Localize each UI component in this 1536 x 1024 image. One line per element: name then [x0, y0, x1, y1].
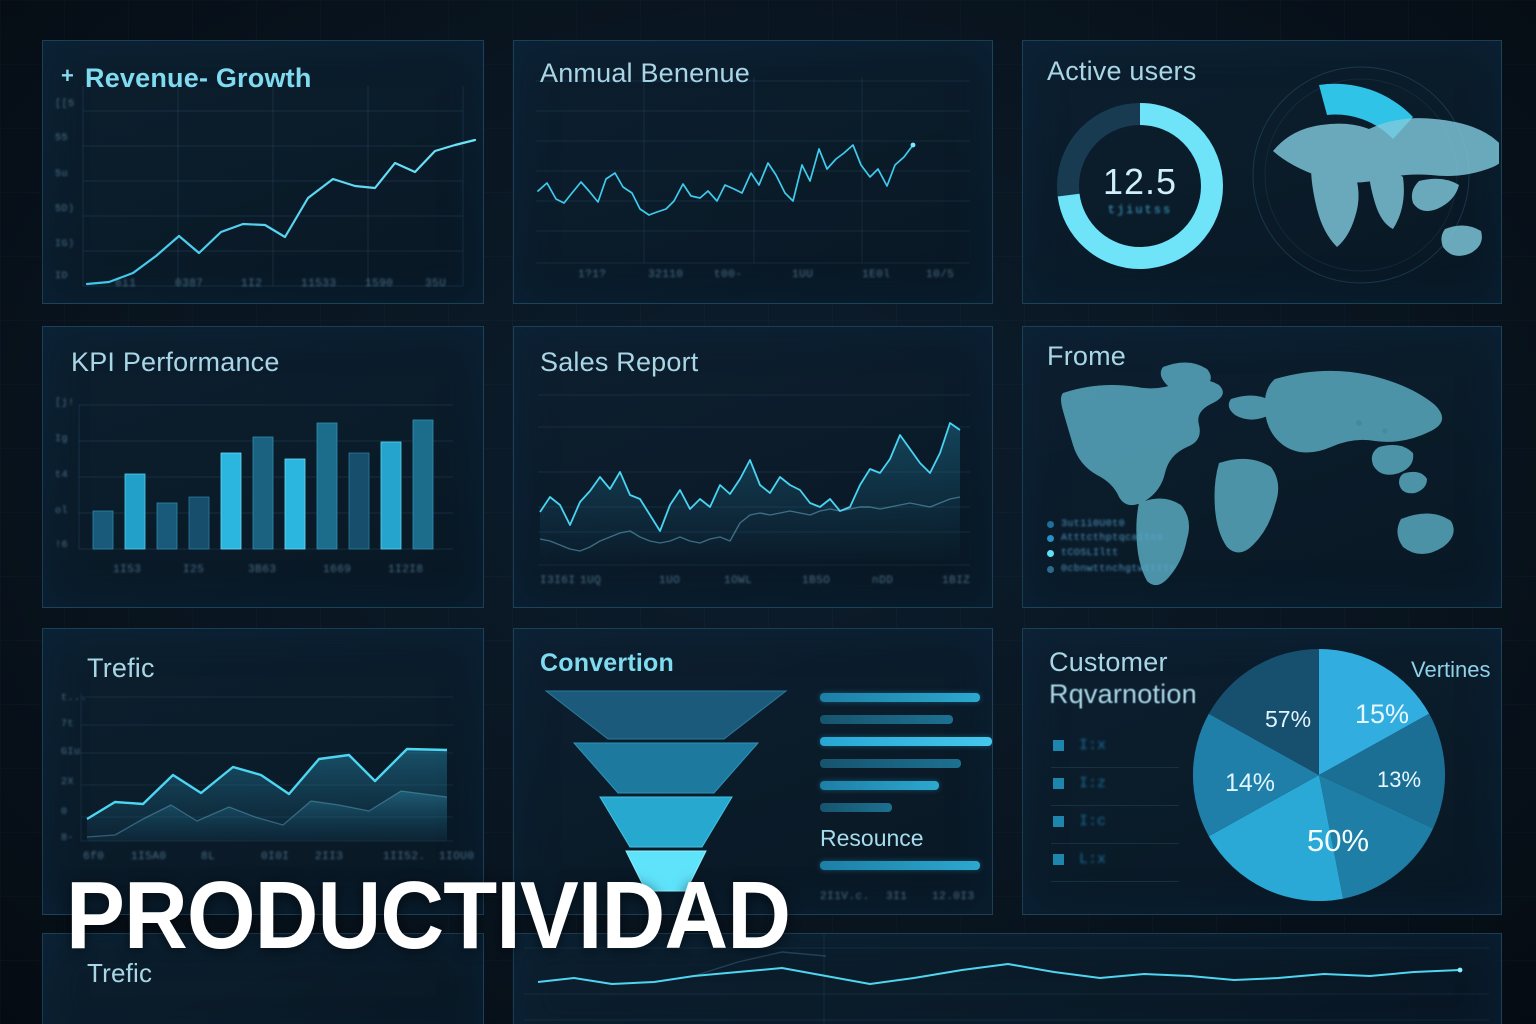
customer-retention-pie[interactable]: 15% 13% 50% 14% 57%: [1187, 643, 1451, 907]
pie-legend-item[interactable]: I:z: [1051, 767, 1179, 806]
axis-tick-y: [[5: [55, 99, 75, 110]
resource-progress-bar: [820, 803, 892, 812]
axis-tick-x: 1BIZ: [942, 575, 970, 587]
axis-tick-x: 1UO: [659, 575, 680, 587]
panel-annual-revenue[interactable]: Anmual Benenue 1?1? 32110 t00- 1UU 1E0l …: [513, 40, 993, 304]
axis-tick-x: 2I1V.c.: [820, 891, 870, 903]
donut-value: 12.5: [1060, 161, 1220, 203]
revenue-growth-chart: [43, 41, 483, 303]
axis-tick-y: Ig: [55, 434, 68, 445]
panel-title-active-users: Active users: [1047, 56, 1196, 87]
axis-tick-y: [j!: [55, 398, 75, 409]
pie-label-50: 50%: [1307, 823, 1369, 858]
axis-tick-x: 1I2: [241, 278, 262, 290]
axis-tick-y: IG): [55, 239, 75, 250]
legend-dot: [1047, 535, 1054, 542]
pie-legend-item[interactable]: I:x: [1051, 729, 1179, 768]
axis-tick-x: I25: [183, 564, 204, 576]
axis-tick-y: ID: [55, 271, 68, 282]
legend-label: I:c: [1079, 813, 1106, 830]
resource-progress-bar: [820, 737, 992, 746]
resource-progress-bar: [820, 781, 939, 790]
axis-tick-y: t4: [55, 470, 68, 481]
legend-label: L:x: [1079, 851, 1106, 868]
legend-swatch: [1053, 740, 1064, 751]
axis-tick-y: ol: [55, 506, 68, 517]
pie-legend-item[interactable]: L:x: [1051, 843, 1179, 882]
legend-swatch: [1053, 778, 1064, 789]
active-users-globe-map: [1241, 55, 1499, 295]
legend-label: Atttcthptqcaitns: [1061, 533, 1163, 544]
pie-legend-item[interactable]: I:c: [1051, 805, 1179, 844]
axis-tick-x: 10/5: [926, 269, 954, 281]
resource-progress-bar: [820, 759, 961, 768]
axis-tick-x: 11533: [301, 278, 337, 290]
axis-tick-x: 1?1?: [578, 269, 606, 281]
annual-revenue-chart: [514, 41, 992, 303]
pie-label-13: 13%: [1377, 767, 1421, 792]
axis-tick-y: 0: [61, 807, 68, 818]
resource-progress-bar: [820, 715, 953, 724]
map-legend-item[interactable]: 0cbnwttnchgtwttttr: [1047, 564, 1176, 575]
axis-tick-x: 12.0I3: [932, 891, 975, 903]
axis-tick-y: !6: [55, 540, 68, 551]
axis-tick-y: 7t: [61, 719, 74, 730]
legend-dot: [1047, 550, 1054, 557]
axis-tick-x: 1I53: [113, 564, 141, 576]
axis-tick-x: 1UU: [792, 269, 813, 281]
resource-progress-bar: [820, 693, 980, 702]
legend-swatch: [1053, 854, 1064, 865]
panel-sales-report[interactable]: Sales Report I3I6I 1UQ 1UO 1O: [513, 326, 993, 608]
resource-total-bar: [820, 861, 980, 870]
axis-tick-x: 6i1: [115, 278, 136, 290]
legend-label: 0cbnwttnchgtwttttr: [1061, 564, 1176, 575]
pie-label-57: 57%: [1265, 706, 1311, 732]
panel-title-customer-line2: Rqvarnotion: [1049, 679, 1197, 710]
axis-tick-y: 8-: [61, 833, 74, 844]
axis-tick-y: GIu: [61, 747, 81, 758]
map-legend-item[interactable]: 3ut1i0U0t0: [1047, 519, 1125, 530]
pie-label-15: 15%: [1355, 699, 1409, 729]
panel-kpi-performance[interactable]: KPI Performance: [42, 326, 484, 608]
axis-tick-x: nDD: [872, 575, 893, 587]
legend-label: I:x: [1079, 737, 1106, 754]
axis-tick-y: 2X: [61, 777, 74, 788]
axis-tick-x: 1E0l: [862, 269, 890, 281]
axis-tick-y: t...: [61, 693, 87, 704]
axis-tick-x: 1I2I8: [388, 564, 424, 576]
map-legend-item[interactable]: tCOSLIltt: [1047, 548, 1119, 559]
overlay-wordmark: PRODUCTIVIDAD: [66, 868, 790, 964]
legend-dot: [1047, 521, 1054, 528]
axis-tick-x: 3I1: [886, 891, 907, 903]
axis-tick-x: t00-: [714, 269, 742, 281]
axis-tick-x: 1B5O: [802, 575, 830, 587]
axis-tick-x: 1669: [323, 564, 351, 576]
resource-label: Resounce: [820, 825, 924, 852]
axis-tick-x: 1UQ: [580, 575, 601, 587]
legend-dot: [1047, 566, 1054, 573]
panel-title-conversion: Convertion: [540, 649, 674, 678]
axis-tick-x: I3I6I: [540, 575, 576, 587]
legend-label: I:z: [1079, 775, 1106, 792]
axis-tick-x: 0387: [175, 278, 203, 290]
panel-active-users[interactable]: Active users 12.5 tjiutss: [1022, 40, 1502, 304]
axis-tick-x: 3B63: [248, 564, 276, 576]
panel-revenue-growth[interactable]: + Revenue- Growth: [42, 40, 484, 304]
axis-tick-y: 55: [55, 133, 68, 144]
legend-label: 3ut1i0U0t0: [1061, 519, 1125, 530]
panel-title-customer-line1: Customer: [1049, 647, 1168, 678]
axis-tick-x: 1OWL: [724, 575, 752, 587]
sales-report-chart: [514, 327, 992, 607]
donut-sublabel: tjiutss: [1060, 203, 1220, 217]
pie-label-14: 14%: [1225, 769, 1275, 797]
axis-tick-y: 5D): [55, 204, 75, 215]
map-legend-item[interactable]: Atttcthptqcaitns: [1047, 533, 1163, 544]
dashboard-root: + Revenue- Growth: [0, 0, 1536, 1024]
legend-swatch: [1053, 816, 1064, 827]
panel-customer-retention[interactable]: Customer Rqvarnotion Vertines I:x I:z I:…: [1022, 628, 1502, 915]
axis-tick-x: 32110: [648, 269, 684, 281]
axis-tick-y: 5u: [55, 169, 68, 180]
axis-tick-x: 1590: [365, 278, 393, 290]
axis-tick-x: 35U: [425, 278, 446, 290]
panel-frome-map[interactable]: Frome: [1022, 326, 1502, 608]
legend-label: tCOSLIltt: [1061, 548, 1119, 559]
